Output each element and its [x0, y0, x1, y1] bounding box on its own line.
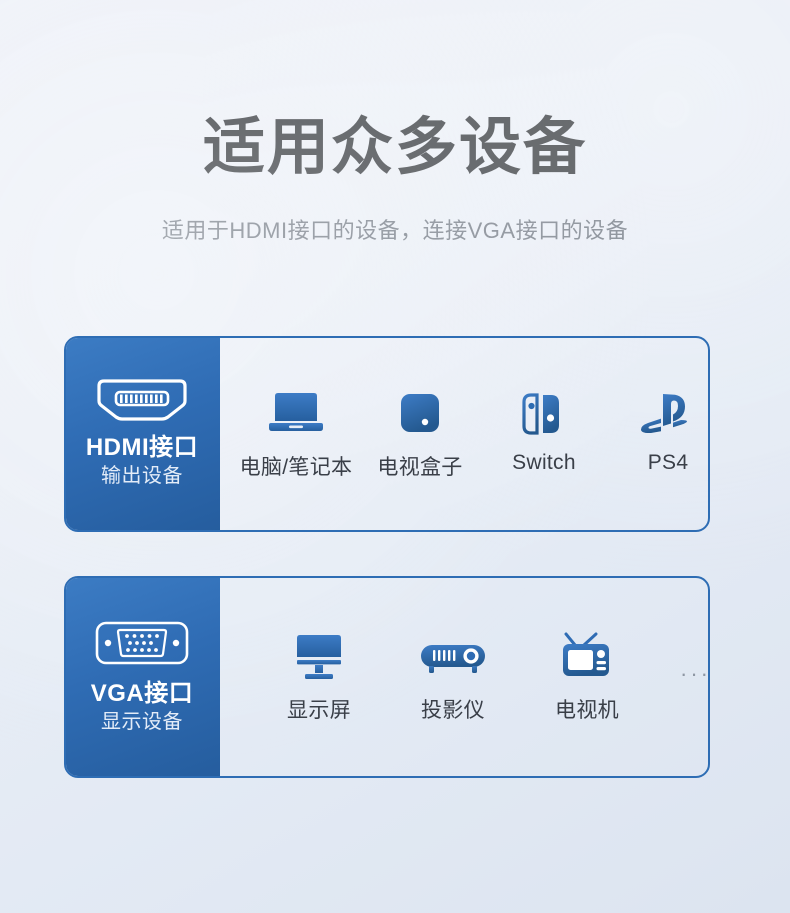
page-subtitle: 适用于HDMI接口的设备，连接VGA接口的设备: [0, 183, 790, 245]
device-monitor: 显示屏: [252, 630, 386, 724]
hdmi-devices-area: 电脑/笔记本: [218, 338, 710, 530]
laptop-icon: [265, 387, 327, 441]
promo-page: 适用众多设备 适用于HDMI接口的设备，连接VGA接口的设备: [0, 0, 790, 913]
page-title: 适用众多设备: [0, 112, 790, 183]
television-icon: [558, 630, 616, 684]
device-label: 电脑/笔记本: [240, 451, 353, 481]
device-label: 投影仪: [421, 694, 485, 724]
tv-box-icon: [395, 387, 445, 441]
device-label: PS4: [648, 451, 689, 475]
device-switch: Switch: [482, 387, 606, 475]
vga-device-card: VGA接口 显示设备: [64, 576, 710, 778]
hdmi-device-list: 电脑/笔记本: [234, 387, 710, 481]
hdmi-port-icon: [94, 379, 190, 421]
hdmi-port-panel: HDMI接口 输出设备: [64, 336, 220, 532]
device-ps4: PS4: [606, 387, 710, 475]
projector-icon: [417, 630, 489, 684]
vga-port-icon: [94, 619, 190, 667]
device-label: 电视盒子: [377, 451, 462, 481]
hdmi-port-title: HDMI接口: [86, 433, 198, 463]
vga-port-panel: VGA接口 显示设备: [64, 576, 220, 778]
vga-devices-area: 显示屏: [218, 578, 710, 776]
header: 适用众多设备 适用于HDMI接口的设备，连接VGA接口的设备: [0, 0, 790, 245]
device-label: 电视机: [555, 694, 619, 724]
vga-device-list: 显示屏: [234, 630, 710, 724]
switch-icon: [519, 387, 569, 441]
monitor-icon: [291, 630, 347, 684]
device-label: 显示屏: [287, 694, 351, 724]
device-laptop: 电脑/笔记本: [234, 387, 358, 481]
device-projector: 投影仪: [386, 630, 520, 724]
device-tv-box: 电视盒子: [358, 387, 482, 481]
hdmi-device-card: HDMI接口 输出设备: [64, 336, 710, 532]
vga-more-ellipsis: ···: [680, 661, 710, 693]
hdmi-port-subtitle: 输出设备: [101, 463, 183, 489]
device-television: 电视机: [520, 630, 654, 724]
playstation-icon: [637, 387, 699, 441]
vga-port-title: VGA接口: [91, 679, 194, 709]
device-label: Switch: [512, 451, 576, 475]
vga-port-subtitle: 显示设备: [101, 709, 183, 735]
